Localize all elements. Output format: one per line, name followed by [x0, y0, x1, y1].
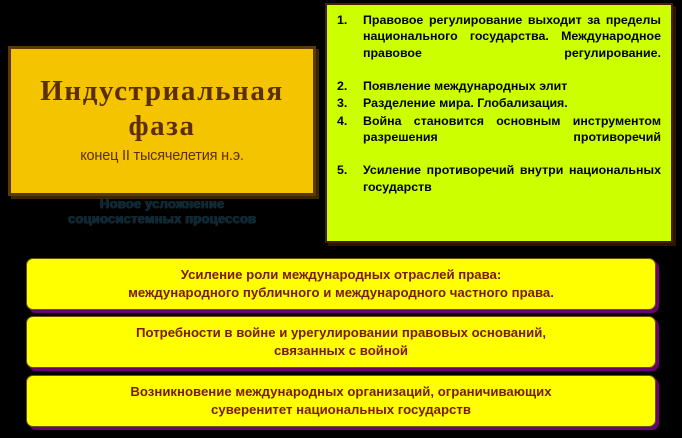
list-item: 2.Появление международных элит: [335, 78, 661, 94]
dark-caption: Новое усложнение социосистемных процессо…: [8, 196, 316, 227]
green-numbered-list: 1.Правовое регулирование выходит за пред…: [335, 12, 661, 211]
banner-1-text: Усиление роли международных отраслей пра…: [128, 266, 554, 302]
list-item: 5.Усиление противоречий внутри националь…: [335, 162, 661, 211]
list-item-number: 5.: [337, 162, 359, 178]
dark-caption-line-2: социосистемных процессов: [8, 211, 316, 226]
list-item-label: Разделение мира. Глобализация.: [363, 96, 568, 110]
list-item-label: Война становится основным инструментом р…: [363, 114, 661, 144]
green-consequences-panel: 1.Правовое регулирование выходит за пред…: [325, 3, 673, 243]
banner-3-line-1: Возникновение международных организаций,…: [130, 383, 551, 401]
title-subtitle: конец II тысячелетия н.э.: [80, 148, 244, 164]
banner-2-text: Потребности в войне и урегулировании пра…: [136, 324, 546, 360]
title-heading-line-2: фаза: [17, 109, 307, 143]
list-item: 3.Разделение мира. Глобализация.: [335, 95, 661, 111]
banner-1-line-2: международного публичного и международно…: [128, 284, 554, 302]
list-item: 1.Правовое регулирование выходит за пред…: [335, 12, 661, 77]
slide-canvas: Индустриальная фаза конец II тысячелетия…: [0, 0, 682, 438]
list-item-number: 1.: [337, 12, 359, 28]
banner-box-1: Усиление роли международных отраслей пра…: [26, 258, 656, 310]
list-item-label: Появление международных элит: [363, 79, 567, 93]
banner-box-2: Потребности в войне и урегулировании пра…: [26, 316, 656, 368]
list-item-label: Правовое регулирование выходит за предел…: [363, 13, 661, 60]
dark-caption-line-1: Новое усложнение: [8, 196, 316, 211]
title-box: Индустриальная фаза конец II тысячелетия…: [8, 46, 316, 196]
title-heading: Индустриальная фаза: [17, 74, 307, 142]
banner-3-text: Возникновение международных организаций,…: [130, 383, 551, 419]
list-item: 4.Война становится основным инструментом…: [335, 113, 661, 162]
title-heading-line-1: Индустриальная: [40, 75, 284, 107]
list-item-number: 3.: [337, 95, 359, 111]
banner-3-line-2: суверенитет национальных государств: [130, 401, 551, 419]
banner-2-line-2: связанных с войной: [136, 342, 546, 360]
banner-1-line-1: Усиление роли международных отраслей пра…: [128, 266, 554, 284]
banner-2-line-1: Потребности в войне и урегулировании пра…: [136, 324, 546, 342]
list-item-number: 4.: [337, 113, 359, 129]
banner-box-3: Возникновение международных организаций,…: [26, 375, 656, 427]
list-item-number: 2.: [337, 78, 359, 94]
list-item-label: Усиление противоречий внутри национальны…: [363, 163, 661, 193]
